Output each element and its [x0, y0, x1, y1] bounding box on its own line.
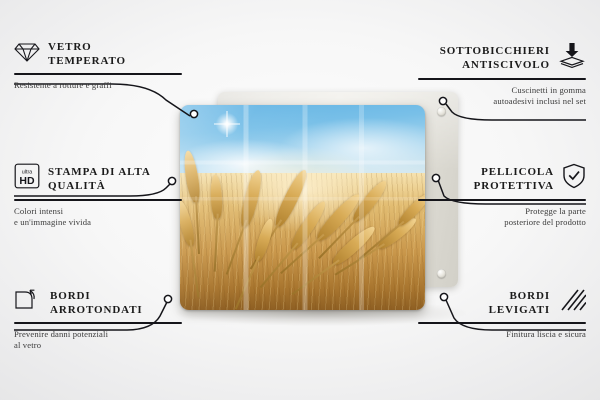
feature-pellicola-protettiva: PELLICOLA PROTETTIVA Protegge la parte p…: [418, 163, 586, 229]
feature-title: VETRO TEMPERATO: [48, 40, 126, 68]
feature-title: SOTTOBICCHIERI ANTISCIVOLO: [440, 44, 550, 72]
rubber-pad-top-right: [437, 107, 446, 116]
feature-caption: Resistente a rotture e graffi: [14, 80, 182, 92]
svg-text:HD: HD: [19, 175, 35, 187]
title-rule: [418, 78, 586, 80]
feature-title: STAMPA DI ALTA QUALITÀ: [48, 165, 151, 193]
feature-title: BORDI LEVIGATI: [489, 289, 550, 317]
anti-slip-pad-icon: [558, 42, 586, 73]
feature-title: PELLICOLA PROTETTIVA: [474, 165, 554, 193]
title-rule: [418, 322, 586, 324]
title-rule: [14, 199, 182, 201]
feature-title: BORDI ARROTONDATI: [50, 289, 143, 317]
ultra-hd-badge-icon: ultra HD: [14, 163, 40, 194]
diamond-icon: [14, 41, 40, 68]
sparkle-icon: [214, 111, 240, 137]
feature-vetro-temperato: VETRO TEMPERATO Resistente a rotture e g…: [14, 40, 182, 91]
feature-bordi-arrotondati: BORDI ARROTONDATI Prevenire danni potenz…: [14, 288, 182, 352]
diagonal-hatch-icon: [558, 288, 586, 317]
shield-check-icon: [562, 163, 586, 194]
feature-caption: Prevenire danni potenziali al vetro: [14, 329, 182, 352]
glass-board: [180, 105, 425, 310]
feature-sottobicchieri-antiscivolo: SOTTOBICCHIERI ANTISCIVOLO Cuscinetti in…: [418, 42, 586, 108]
rubber-pad-bottom-right: [437, 269, 446, 278]
feature-caption: Finitura liscia e sicura: [418, 329, 586, 341]
infographic-canvas: VETRO TEMPERATO Resistente a rotture e g…: [0, 0, 600, 400]
title-rule: [14, 322, 182, 324]
feature-caption: Protegge la parte posteriore del prodott…: [418, 206, 586, 229]
feature-bordi-levigati: BORDI LEVIGATI Finitura liscia e sicura: [418, 288, 586, 340]
title-rule: [14, 73, 182, 75]
feature-stampa-alta-qualita: ultra HD STAMPA DI ALTA QUALITÀ Colori i…: [14, 163, 182, 229]
rounded-corner-icon: [14, 288, 42, 317]
title-rule: [418, 199, 586, 201]
feature-caption: Colori intensi e un'immagine vivida: [14, 206, 182, 229]
feature-caption: Cuscinetti in gomma autoadesivi inclusi …: [418, 85, 586, 108]
